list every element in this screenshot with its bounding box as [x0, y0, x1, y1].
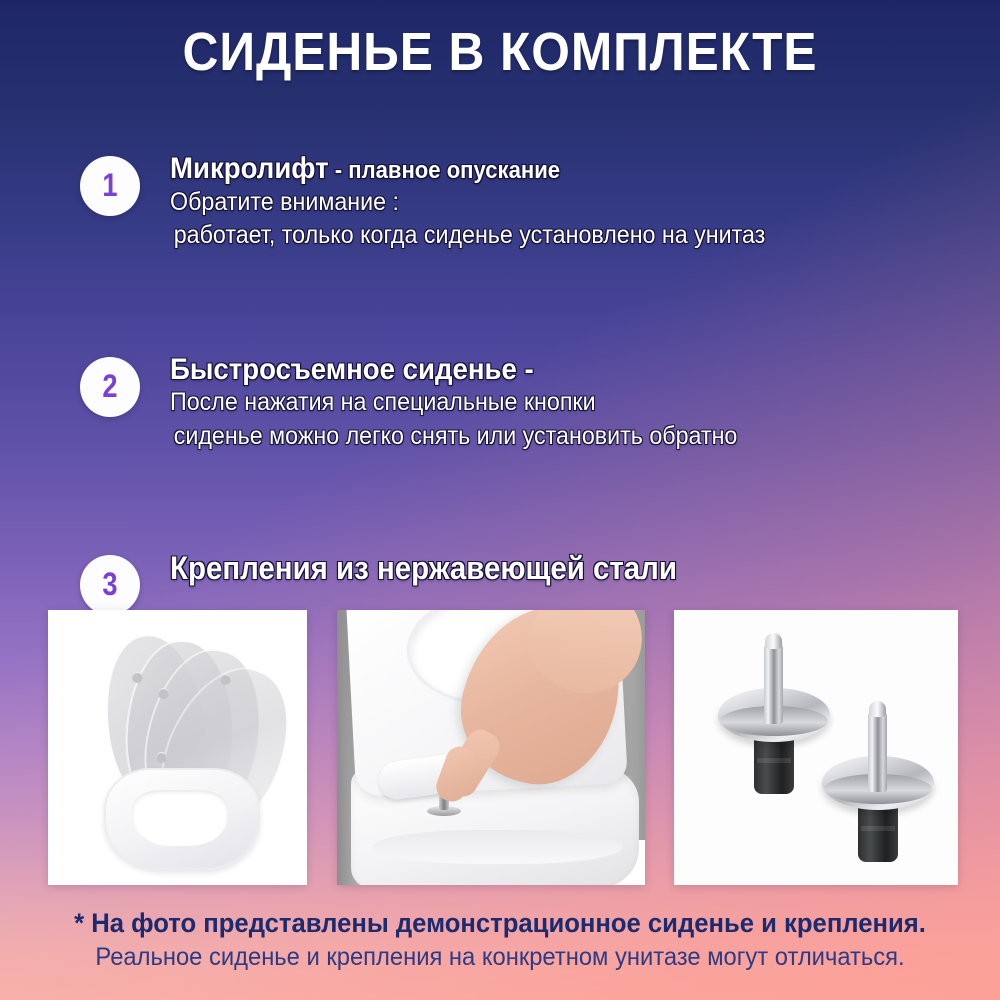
feature-line-1-1: Обратите внимание : — [170, 186, 923, 220]
photo-quick-release-hand — [337, 610, 645, 885]
seat-bumper-icon-1 — [132, 672, 143, 683]
feature-heading-rest-1: - плавное опускание — [329, 157, 560, 184]
seat-bumper-icon-2 — [158, 688, 169, 699]
photo-2-background — [337, 610, 645, 885]
chrome-bolt-1-tip — [765, 633, 782, 649]
chrome-bolt-2-pin — [868, 708, 887, 792]
feature-line-2-2: сиденье можно легко снять или установить… — [170, 420, 923, 454]
footer-line-2: Реальное сиденье и крепления на конкретн… — [25, 941, 975, 974]
seat-bumper-icon-3 — [220, 674, 231, 685]
chrome-bolt-2-tip — [869, 701, 886, 717]
feature-line-2-1: После нажатия на специальные кнопки — [170, 386, 923, 420]
feature-heading-strong-2: Быстросъемное сиденье - — [170, 353, 534, 386]
seat-ring — [104, 768, 260, 870]
mount-bolt-left-icon — [427, 806, 461, 816]
feature-list: 1 Микролифт - плавное опускание Обратите… — [0, 152, 1000, 611]
seat-motion-illustration — [48, 610, 307, 885]
feature-badge-2: 2 — [80, 357, 140, 417]
feature-heading-3: Крепления из нержавеющей стали — [170, 551, 915, 587]
feature-heading-strong-1: Микролифт — [170, 152, 329, 185]
photo-gallery — [48, 610, 958, 885]
feature-badge-number-1: 1 — [102, 169, 117, 201]
bolt-pair-illustration — [674, 610, 958, 885]
feature-badge-number-3: 3 — [102, 568, 117, 600]
photo-soft-close-seat — [48, 610, 307, 885]
footer-line-1: * На фото представлены демонстрационное … — [25, 906, 975, 941]
photo-steel-bolts — [674, 610, 958, 885]
feature-heading-strong-3: Крепления из нержавеющей стали — [170, 550, 677, 586]
feature-line-1-2: работает, только когда сиденье установле… — [170, 219, 923, 253]
feature-heading-2: Быстросъемное сиденье - — [170, 353, 915, 387]
feature-badge-1: 1 — [80, 156, 140, 216]
footer-disclaimer: * На фото представлены демонстрационное … — [0, 906, 1000, 973]
feature-item-2: 2 Быстросъемное сиденье - После нажатия … — [0, 353, 1000, 454]
feature-badge-3: 3 — [80, 555, 140, 615]
feature-badge-number-2: 2 — [102, 370, 117, 402]
feature-item-3: 3 Крепления из нержавеющей стали — [0, 551, 1000, 611]
chrome-bolt-1-pin — [764, 640, 783, 724]
seat-bumper-icon-4 — [156, 752, 167, 763]
feature-item-1: 1 Микролифт - плавное опускание Обратите… — [0, 152, 1000, 253]
page-title: СИДЕНЬЕ В КОМПЛЕКТЕ — [40, 24, 960, 81]
feature-heading-1: Микролифт - плавное опускание — [170, 152, 915, 186]
poster-root: СИДЕНЬЕ В КОМПЛЕКТЕ 1 Микролифт - плавно… — [0, 0, 1000, 1000]
